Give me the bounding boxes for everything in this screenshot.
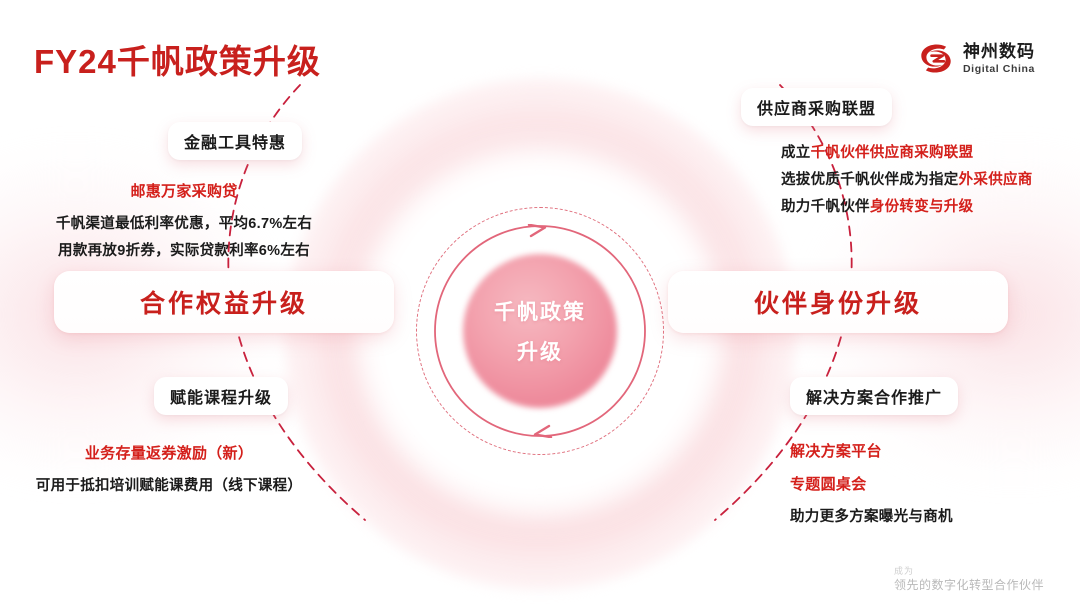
chip-solution-promotion[interactable]: 解决方案合作推广 — [790, 377, 958, 415]
supplier-row-2-black: 选拔优质千帆伙伴成为指定 — [781, 172, 959, 188]
supplier-row-3-black: 助力千帆伙伴 — [781, 199, 870, 215]
block-finance: 邮惠万家采购贷 千帆渠道最低利率优惠，平均6.7%左右 用款再放9折券，实际贷款… — [34, 178, 334, 265]
chip-supplier-alliance[interactable]: 供应商采购联盟 — [741, 88, 892, 126]
course-line-1: 可用于抵扣培训赋能课费用（线下课程） — [14, 473, 324, 500]
chip-finance-tools[interactable]: 金融工具特惠 — [168, 122, 302, 160]
pill-left-label: 合作权益升级 — [140, 284, 308, 320]
pill-partner-benefits[interactable]: 合作权益升级 — [54, 271, 394, 333]
brand-logo: 神州数码 Digital China — [918, 42, 1035, 75]
supplier-row-2: 选拔优质千帆伙伴成为指定外采供应商 — [781, 167, 1033, 194]
chip-finance-label: 金融工具特惠 — [184, 129, 286, 153]
supplier-row-3-red: 身份转变与升级 — [870, 199, 974, 215]
course-heading: 业务存量返券激励（新） — [14, 440, 324, 467]
page-title: FY24千帆政策升级 — [34, 35, 321, 83]
solution-heading-1: 解决方案平台 — [790, 438, 953, 465]
chip-supply-label: 供应商采购联盟 — [757, 95, 876, 119]
chip-course-upgrade[interactable]: 赋能课程升级 — [154, 377, 288, 415]
pill-partner-identity[interactable]: 伙伴身份升级 — [668, 271, 1008, 333]
supplier-row-1: 成立千帆伙伴供应商采购联盟 — [781, 140, 1033, 167]
block-supplier: 成立千帆伙伴供应商采购联盟 选拔优质千帆伙伴成为指定外采供应商 助力千帆伙伴身份… — [781, 140, 1033, 221]
logo-name-cn: 神州数码 — [963, 43, 1035, 60]
chip-solution-label: 解决方案合作推广 — [806, 384, 942, 408]
slide-canvas: FY24千帆政策升级 神州数码 Digital China 千帆政策 升级 合作… — [0, 0, 1080, 605]
supplier-row-1-black: 成立 — [781, 145, 811, 161]
logo-name-en: Digital China — [963, 64, 1035, 75]
hub-label-line1: 千帆政策 — [494, 296, 586, 326]
solution-heading-2: 专题圆桌会 — [790, 471, 953, 498]
digital-china-swirl-icon — [918, 42, 954, 75]
pill-right-label: 伙伴身份升级 — [754, 284, 922, 320]
block-solution: 解决方案平台 专题圆桌会 助力更多方案曝光与商机 — [790, 438, 953, 531]
chip-course-label: 赋能课程升级 — [170, 384, 272, 408]
watermark-small: 成为 — [894, 565, 1044, 577]
finance-line-1: 千帆渠道最低利率优惠，平均6.7%左右 — [34, 211, 334, 238]
supplier-row-1-red: 千帆伙伴供应商采购联盟 — [811, 145, 974, 161]
logo-text: 神州数码 Digital China — [963, 43, 1035, 75]
supplier-row-2-red: 外采供应商 — [959, 172, 1033, 188]
hub-label: 千帆政策 升级 — [416, 207, 664, 455]
watermark: 成为 领先的数字化转型合作伙伴 — [894, 565, 1044, 593]
finance-line-2: 用款再放9折券，实际贷款利率6%左右 — [34, 238, 334, 265]
finance-heading: 邮惠万家采购贷 — [34, 178, 334, 205]
center-hub: 千帆政策 升级 — [416, 207, 664, 455]
solution-line-1: 助力更多方案曝光与商机 — [790, 504, 953, 531]
hub-label-line2: 升级 — [517, 336, 563, 366]
block-course: 业务存量返券激励（新） 可用于抵扣培训赋能课费用（线下课程） — [14, 440, 324, 500]
watermark-big: 领先的数字化转型合作伙伴 — [894, 577, 1044, 593]
supplier-row-3: 助力千帆伙伴身份转变与升级 — [781, 194, 1033, 221]
